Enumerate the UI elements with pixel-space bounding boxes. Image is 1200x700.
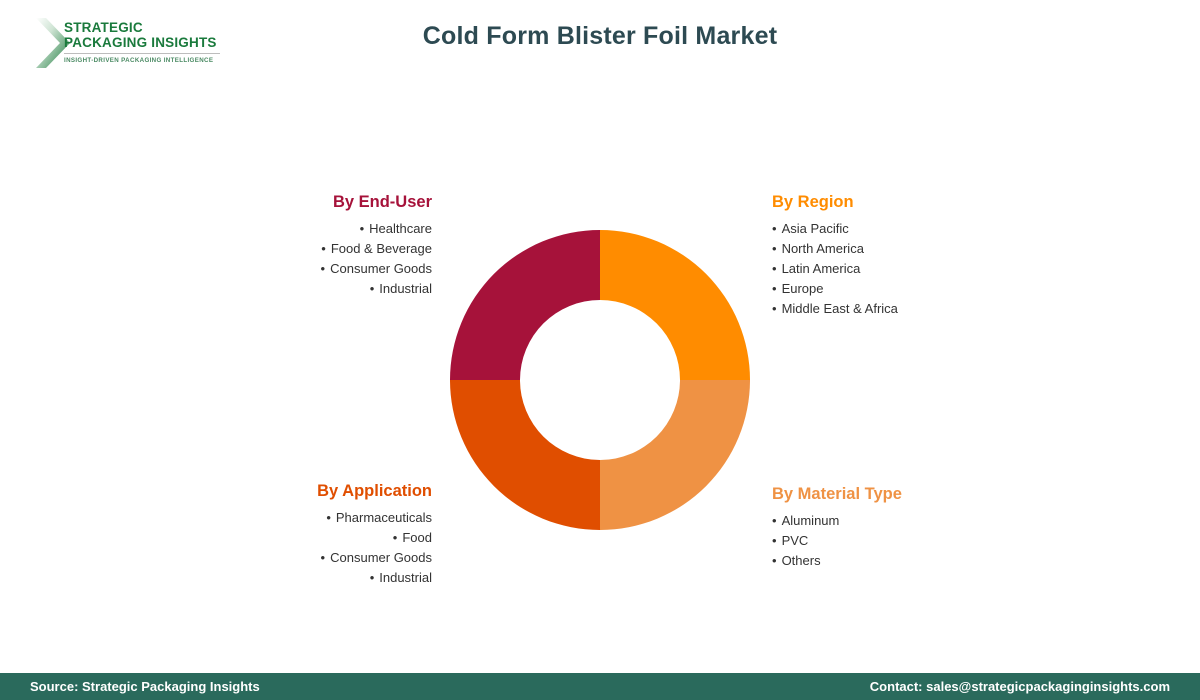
segment-block-end-user: By End-User •Healthcare •Food & Beverage…: [190, 193, 432, 299]
footer-source: Source: Strategic Packaging Insights: [30, 679, 260, 694]
segment-title-end-user: By End-User: [190, 193, 432, 212]
list-item: •Consumer Goods: [190, 259, 432, 279]
footer-contact[interactable]: Contact: sales@strategicpackaginginsight…: [870, 679, 1170, 694]
bullet-icon: •: [326, 510, 331, 525]
bullet-icon: •: [772, 553, 777, 568]
bullet-icon: •: [360, 221, 365, 236]
list-item-label: Healthcare: [369, 221, 432, 236]
bullet-icon: •: [772, 241, 777, 256]
list-item-label: Latin America: [782, 261, 861, 276]
list-item-label: Consumer Goods: [330, 261, 432, 276]
logo-tagline: INSIGHT-DRIVEN PACKAGING INTELLIGENCE: [64, 57, 234, 64]
list-item: •Healthcare: [190, 219, 432, 239]
page-title: Cold Form Blister Foil Market: [0, 22, 1200, 51]
list-item: •Europe: [772, 279, 1052, 299]
list-item: •Consumer Goods: [190, 548, 432, 568]
list-item: •Food & Beverage: [190, 239, 432, 259]
donut-slice-material-type[interactable]: [600, 380, 750, 530]
bullet-icon: •: [321, 550, 326, 565]
list-item: •Aluminum: [772, 511, 1052, 531]
segment-list-end-user: •Healthcare •Food & Beverage •Consumer G…: [190, 219, 432, 299]
list-item-label: Aluminum: [782, 513, 840, 528]
list-item: •Pharmaceuticals: [190, 508, 432, 528]
list-item-label: Industrial: [379, 281, 432, 296]
list-item-label: Food: [402, 530, 432, 545]
segment-title-application: By Application: [190, 482, 432, 501]
bullet-icon: •: [772, 261, 777, 276]
bullet-icon: •: [393, 530, 398, 545]
list-item: •Industrial: [190, 568, 432, 588]
segment-title-region: By Region: [772, 193, 1052, 212]
list-item: •North America: [772, 239, 1052, 259]
list-item: •Industrial: [190, 279, 432, 299]
bullet-icon: •: [370, 570, 375, 585]
bullet-icon: •: [772, 221, 777, 236]
list-item: •PVC: [772, 531, 1052, 551]
bullet-icon: •: [772, 533, 777, 548]
list-item: •Latin America: [772, 259, 1052, 279]
list-item-label: Food & Beverage: [331, 241, 432, 256]
segment-list-material-type: •Aluminum •PVC •Others: [772, 511, 1052, 571]
list-item: •Others: [772, 551, 1052, 571]
footer-bar: Source: Strategic Packaging Insights Con…: [0, 673, 1200, 700]
bullet-icon: •: [370, 281, 375, 296]
list-item-label: Industrial: [379, 570, 432, 585]
donut-slice-region[interactable]: [600, 230, 750, 380]
bullet-icon: •: [772, 301, 777, 316]
list-item: •Food: [190, 528, 432, 548]
segment-block-material-type: By Material Type •Aluminum •PVC •Others: [772, 485, 1052, 571]
bullet-icon: •: [772, 513, 777, 528]
list-item-label: PVC: [782, 533, 809, 548]
segment-block-region: By Region •Asia Pacific •North America •…: [772, 193, 1052, 319]
list-item-label: Asia Pacific: [782, 221, 849, 236]
bullet-icon: •: [772, 281, 777, 296]
donut-slice-end-user[interactable]: [450, 230, 600, 380]
list-item-label: Pharmaceuticals: [336, 510, 432, 525]
bullet-icon: •: [321, 241, 326, 256]
logo-divider: [64, 53, 220, 54]
list-item-label: Middle East & Africa: [782, 301, 898, 316]
list-item-label: Consumer Goods: [330, 550, 432, 565]
list-item: •Middle East & Africa: [772, 299, 1052, 319]
segment-block-application: By Application •Pharmaceuticals •Food •C…: [190, 482, 432, 588]
list-item-label: North America: [782, 241, 864, 256]
list-item: •Asia Pacific: [772, 219, 1052, 239]
list-item-label: Others: [782, 553, 821, 568]
segment-list-application: •Pharmaceuticals •Food •Consumer Goods •…: [190, 508, 432, 588]
donut-chart: [450, 230, 750, 530]
segment-list-region: •Asia Pacific •North America •Latin Amer…: [772, 219, 1052, 319]
donut-slice-application[interactable]: [450, 380, 600, 530]
list-item-label: Europe: [782, 281, 824, 296]
segment-title-material-type: By Material Type: [772, 485, 1052, 504]
bullet-icon: •: [321, 261, 326, 276]
